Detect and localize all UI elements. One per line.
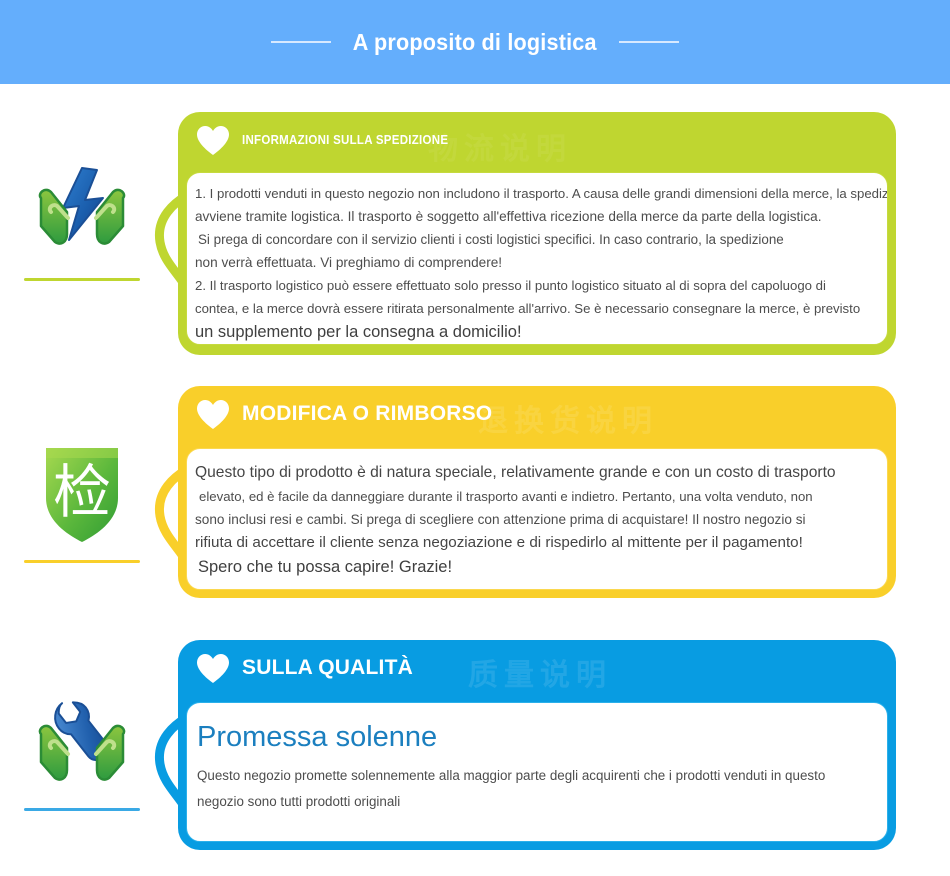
shipping-header-title: INFORMAZIONI SULLA SPEDIZIONE bbox=[242, 133, 448, 147]
quality-header-ghost-text: 质量说明 bbox=[468, 650, 612, 694]
refund-icon-column: 检 bbox=[12, 440, 152, 563]
heart-icon bbox=[196, 399, 230, 430]
refund-icon-underline bbox=[24, 560, 140, 563]
quality-header-title: SULLA QUALITÀ bbox=[242, 656, 413, 680]
quality-text-panel: Promessa solenne Questo negozio promette… bbox=[186, 702, 888, 842]
refund-header-title: MODIFICA O RIMBORSO bbox=[242, 402, 492, 426]
shipping-line-6: contea, e la merce dovrà essere ritirata… bbox=[195, 297, 879, 320]
refund-line-2: elevato, ed è facile da danneggiare dura… bbox=[195, 485, 879, 508]
shipping-text-panel: 1. I prodotti venduti in questo negozio … bbox=[186, 172, 888, 345]
hands-holding-wrench-icon bbox=[27, 690, 137, 800]
shipping-icon-underline bbox=[24, 278, 140, 281]
banner-rule-right bbox=[619, 41, 679, 43]
quality-heading: Promessa solenne bbox=[197, 717, 877, 757]
shipping-line-3: Si prega di concordare con il servizio c… bbox=[195, 228, 879, 251]
quality-icon-column bbox=[12, 690, 152, 811]
hands-holding-lightning-icon bbox=[27, 150, 137, 270]
refund-line-4: rifiuta di accettare il cliente senza ne… bbox=[195, 531, 879, 555]
quality-card-header: 质量说明 SULLA QUALITÀ bbox=[178, 640, 896, 696]
shield-inspection-badge-icon: 检 bbox=[30, 440, 134, 552]
page-header-banner: A proposito di logistica bbox=[0, 0, 950, 84]
refund-badge-char: 检 bbox=[53, 458, 111, 526]
quality-line-1: Questo negozio promette solennemente all… bbox=[197, 763, 877, 789]
refund-line-5: Spero che tu possa capire! Grazie! bbox=[195, 555, 879, 580]
shipping-line-7: un supplemento per la consegna a domicil… bbox=[195, 320, 879, 344]
shipping-line-5: 2. Il trasporto logistico può essere eff… bbox=[195, 274, 879, 297]
shipping-card-header: 物流说明 INFORMAZIONI SULLA SPEDIZIONE bbox=[178, 112, 896, 168]
refund-line-3: sono inclusi resi e cambi. Si prega di s… bbox=[195, 508, 879, 531]
shipping-line-2: avviene tramite logistica. Il trasporto … bbox=[195, 205, 879, 228]
heart-icon bbox=[196, 653, 230, 684]
banner-rule-left bbox=[271, 41, 331, 43]
refund-text-panel: Questo tipo di prodotto è di natura spec… bbox=[186, 448, 888, 590]
refund-card-header: 退换货说明 MODIFICA O RIMBORSO bbox=[178, 386, 896, 442]
shipping-header-ghost-text: 物流说明 bbox=[428, 124, 572, 168]
shipping-icon-column bbox=[12, 150, 152, 281]
page-title: A proposito di logistica bbox=[353, 29, 597, 56]
shipping-line-4: non verrà effettuata. Vi preghiamo di co… bbox=[195, 251, 879, 274]
refund-line-1: Questo tipo di prodotto è di natura spec… bbox=[195, 461, 879, 485]
refund-header-ghost-text: 退换货说明 bbox=[478, 396, 658, 440]
shipping-line-1: 1. I prodotti venduti in questo negozio … bbox=[195, 182, 879, 205]
heart-icon bbox=[196, 125, 230, 156]
quality-line-2: negozio sono tutti prodotti originali bbox=[197, 789, 877, 815]
quality-icon-underline bbox=[24, 808, 140, 811]
